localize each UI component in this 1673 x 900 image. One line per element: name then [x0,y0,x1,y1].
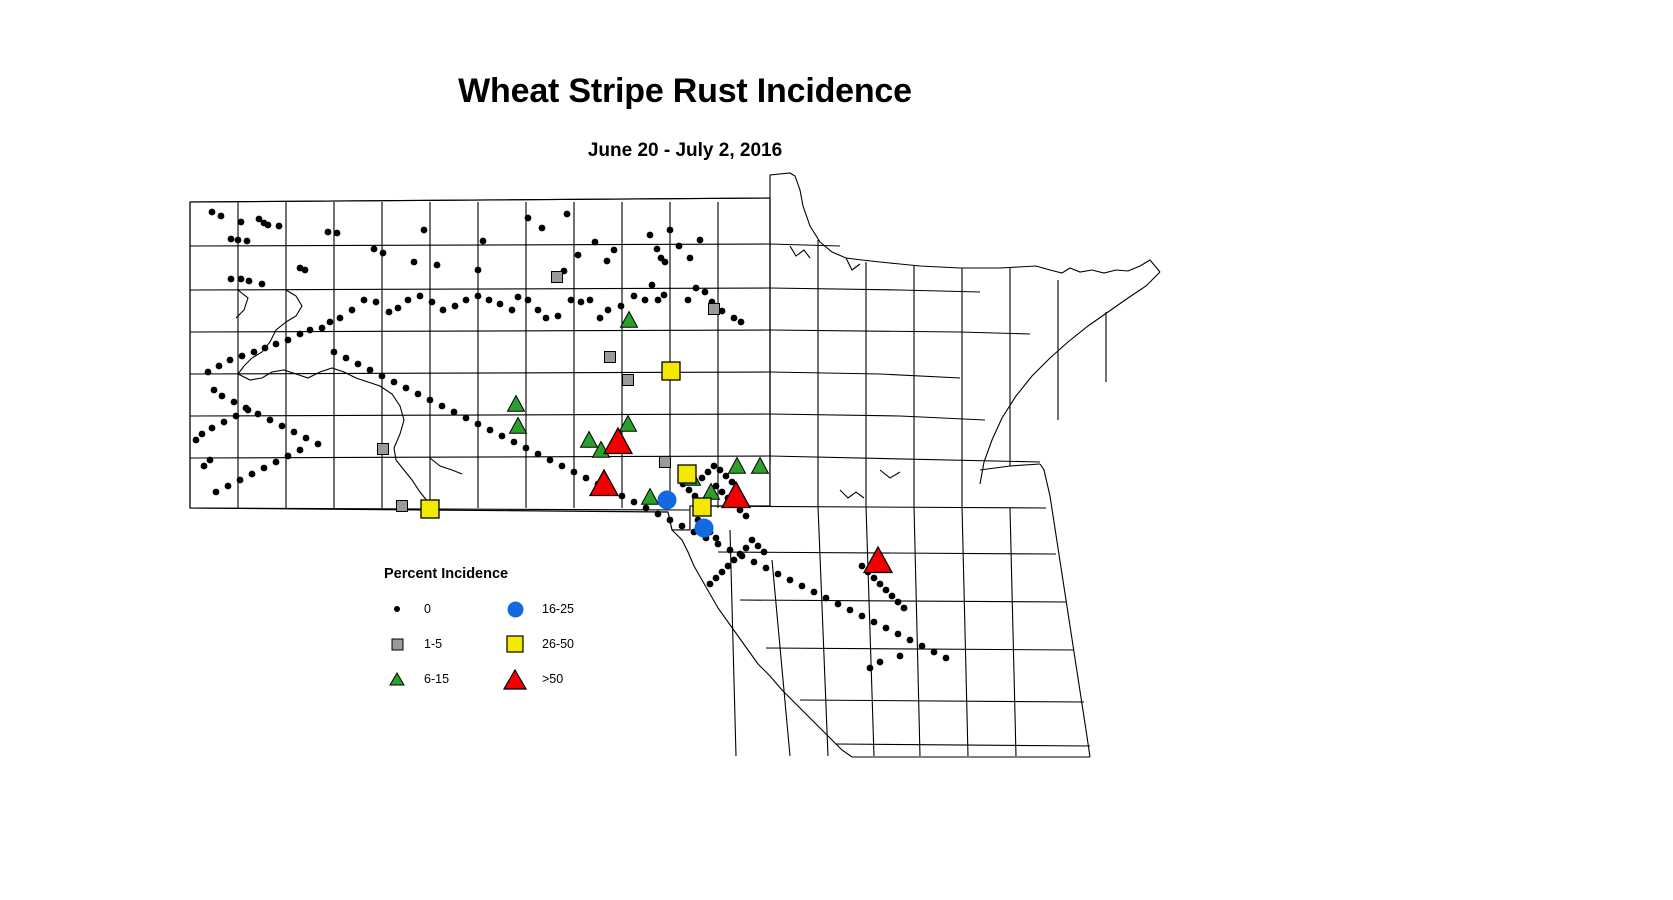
marker-dot-zero [373,299,380,306]
marker-yellow-square-26-50 [693,498,711,516]
marker-dot-zero [667,227,674,234]
gray-square-icon [384,638,410,651]
legend-item-2: 6-15 [384,668,502,690]
marker-dot-zero [539,225,546,232]
marker-dot-zero [883,625,890,632]
marker-dot-zero [249,471,256,478]
marker-dot-zero [285,337,292,344]
marker-dot-zero [835,601,842,608]
marker-dot-zero [655,511,662,518]
marker-dot-zero [251,349,258,356]
marker-dot-zero [201,463,208,470]
marker-dot-zero [687,255,694,262]
marker-dot-zero [361,297,368,304]
marker-dot-zero [475,267,482,274]
marker-dot-zero [877,659,884,666]
marker-dot-zero [231,399,238,406]
marker-dot-zero [319,325,326,332]
map-canvas [0,0,1673,900]
legend-item-3: 16-25 [502,598,620,620]
marker-dot-zero [417,293,424,300]
marker-dot-zero [555,313,562,320]
dot-icon [384,605,410,613]
marker-dot-zero [737,551,744,558]
legend-item-0: 0 [384,598,502,620]
marker-dot-zero [823,595,830,602]
marker-dot-zero [227,357,234,364]
marker-yellow-square-26-50 [421,500,439,518]
legend-label-3: 16-25 [528,602,574,616]
legend-item-5: >50 [502,668,620,690]
marker-dot-zero [259,281,266,288]
legend-item-1: 1-5 [384,633,502,655]
marker-dot-zero [611,247,618,254]
marker-dot-zero [525,297,532,304]
marker-dot-zero [463,297,470,304]
marker-dot-zero [592,239,599,246]
marker-dot-zero [931,649,938,656]
marker-dot-zero [604,258,611,265]
marker-dot-zero [583,475,590,482]
marker-dot-zero [285,453,292,460]
marker-dot-zero [943,655,950,662]
marker-dot-zero [349,307,356,314]
marker-dot-zero [679,523,686,530]
marker-dot-zero [676,243,683,250]
marker-dot-zero [297,331,304,338]
marker-dot-zero [475,421,482,428]
marker-dot-zero [367,367,374,374]
marker-dot-zero [380,250,387,257]
marker-dot-zero [325,229,332,236]
marker-dot-zero [895,631,902,638]
marker-dot-zero [871,575,878,582]
marker-dot-zero [575,252,582,259]
marker-dot-zero [578,299,585,306]
state-outlines [190,173,1160,756]
marker-dot-zero [907,637,914,644]
marker-dot-zero [246,278,253,285]
marker-dot-zero [334,230,341,237]
marker-dot-zero [355,361,362,368]
marker-dot-zero [525,215,532,222]
marker-dot-zero [731,315,738,322]
legend-title: Percent Incidence [384,566,624,582]
marker-dot-zero [571,469,578,476]
marker-dot-zero [515,294,522,301]
marker-dot-zero [486,297,493,304]
marker-dot-zero [279,423,286,430]
marker-dot-zero [221,419,228,426]
marker-dot-zero [315,441,322,448]
marker-dot-zero [475,293,482,300]
marker-dot-zero [787,577,794,584]
marker-dot-zero [207,457,214,464]
marker-dot-zero [427,397,434,404]
marker-dot-zero [480,238,487,245]
marker-dot-zero [327,319,334,326]
marker-dot-zero [631,499,638,506]
marker-dot-zero [429,299,436,306]
marker-dot-zero [699,475,706,482]
marker-dot-zero [434,262,441,269]
marker-dot-zero [725,563,732,570]
marker-dot-zero [643,505,650,512]
legend-label-1: 1-5 [410,637,442,651]
marker-dot-zero [655,297,662,304]
yellow-square-icon [502,635,528,653]
marker-dot-zero [705,469,712,476]
marker-dot-zero [775,571,782,578]
marker-dot-zero [642,297,649,304]
marker-gray-square-1-5 [605,352,616,363]
marker-dot-zero [255,411,262,418]
marker-dot-zero [199,431,206,438]
marker-dot-zero [727,547,734,554]
marker-dot-zero [568,297,575,304]
marker-dot-zero [535,307,542,314]
marker-dot-zero [847,607,854,614]
marker-dot-zero [439,403,446,410]
marker-dot-zero [713,575,720,582]
marker-dot-zero [509,307,516,314]
marker-dot-zero [297,447,304,454]
marker-dot-zero [564,211,571,218]
marker-dot-zero [895,599,902,606]
marker-dot-zero [421,227,428,234]
marker-dot-zero [273,459,280,466]
marker-dot-zero [238,276,245,283]
marker-dot-zero [273,341,280,348]
marker-dot-zero [452,303,459,310]
marker-dot-zero [245,407,252,414]
marker-dot-zero [761,549,768,556]
marker-blue-circle-16-25 [695,519,713,537]
marker-dot-zero [218,213,225,220]
marker-dot-zero [239,353,246,360]
legend-label-5: >50 [528,672,563,686]
marker-dot-zero [237,477,244,484]
marker-dot-zero [262,345,269,352]
marker-dot-zero [209,209,216,216]
marker-dot-zero [738,319,745,326]
marker-dot-zero [216,363,223,370]
marker-dot-zero [535,451,542,458]
marker-dot-zero [511,439,518,446]
marker-dot-zero [702,289,709,296]
marker-dot-zero [193,437,200,444]
marker-dot-zero [719,489,726,496]
marker-dot-zero [403,385,410,392]
marker-dot-zero [219,393,226,400]
marker-dot-zero [235,237,242,244]
marker-dot-zero [559,463,566,470]
green-triangle-icon [384,672,410,686]
marker-dot-zero [871,619,878,626]
marker-dot-zero [411,259,418,266]
marker-dot-zero [451,409,458,416]
marker-dot-zero [755,543,762,550]
marker-dot-zero [686,487,693,494]
marker-dot-zero [661,292,668,299]
marker-dot-zero [331,349,338,356]
marker-dot-zero [303,435,310,442]
marker-dot-zero [497,301,504,308]
marker-dot-zero [244,238,251,245]
marker-dot-zero [587,297,594,304]
marker-dot-zero [897,653,904,660]
marker-dot-zero [463,415,470,422]
marker-dot-zero [631,293,638,300]
red-triangle-icon [502,669,528,690]
marker-dot-zero [343,355,350,362]
marker-dot-zero [654,246,661,253]
marker-dot-zero [883,587,890,594]
marker-dot-zero [597,315,604,322]
marker-dot-zero [647,232,654,239]
marker-dot-zero [743,513,750,520]
legend-label-0: 0 [410,602,431,616]
marker-dot-zero [265,222,272,229]
marker-dot-zero [685,297,692,304]
marker-gray-square-1-5 [660,457,671,468]
marker-yellow-square-26-50 [662,362,680,380]
marker-dot-zero [919,643,926,650]
marker-dot-zero [749,537,756,544]
marker-dot-zero [211,387,218,394]
marker-gray-square-1-5 [552,272,563,283]
marker-dot-zero [261,465,268,472]
marker-dot-zero [499,433,506,440]
marker-dot-zero [487,427,494,434]
marker-dot-zero [547,457,554,464]
marker-dot-zero [386,309,393,316]
marker-dot-zero [543,315,550,322]
marker-dot-zero [276,223,283,230]
marker-dot-zero [719,569,726,576]
legend-label-2: 6-15 [410,672,449,686]
legend-item-4: 26-50 [502,633,620,655]
marker-dot-zero [337,315,344,322]
marker-dot-zero [811,589,818,596]
marker-dot-zero [715,541,722,548]
marker-dot-zero [213,489,220,496]
marker-dot-zero [799,583,806,590]
marker-dot-zero [238,219,245,226]
marker-dot-zero [867,665,874,672]
marker-dot-zero [228,276,235,283]
marker-dot-zero [693,285,700,292]
marker-dot-zero [228,236,235,243]
marker-dot-zero [667,517,674,524]
marker-dot-zero [307,327,314,334]
marker-dot-zero [291,429,298,436]
marker-dot-zero [233,413,240,420]
marker-dot-zero [717,467,724,474]
marker-dot-zero [371,246,378,253]
marker-dot-zero [209,425,216,432]
marker-dot-zero [267,417,274,424]
marker-dot-zero [711,463,718,470]
marker-gray-square-1-5 [397,501,408,512]
marker-dot-zero [618,303,625,310]
legend: Percent Incidence 0 1-5 [384,566,624,690]
marker-dot-zero [901,605,908,612]
marker-dot-zero [395,305,402,312]
marker-dot-zero [415,391,422,398]
marker-dot-zero [619,493,626,500]
marker-dot-zero [405,297,412,304]
marker-blue-circle-16-25 [658,491,676,509]
marker-dot-zero [763,565,770,572]
marker-dot-zero [859,563,866,570]
marker-gray-square-1-5 [709,304,720,315]
marker-gray-square-1-5 [378,444,389,455]
legend-column-left: 0 1-5 6-15 [384,598,502,690]
marker-dot-zero [379,373,386,380]
legend-column-right: 16-25 26-50 >50 [502,598,620,690]
marker-dot-zero [205,369,212,376]
marker-dot-zero [697,237,704,244]
blue-circle-icon [502,601,528,618]
marker-yellow-square-26-50 [678,465,696,483]
legend-label-4: 26-50 [528,637,574,651]
marker-dot-zero [713,535,720,542]
map-page: Wheat Stripe Rust Incidence June 20 - Ju… [0,0,1673,900]
marker-dot-zero [391,379,398,386]
marker-dot-zero [751,559,758,566]
marker-dot-zero [877,581,884,588]
marker-dot-zero [707,581,714,588]
marker-dot-zero [440,307,447,314]
marker-dot-zero [743,545,750,552]
marker-dot-zero [605,307,612,314]
marker-dot-zero [859,613,866,620]
marker-dot-zero [649,282,656,289]
marker-gray-square-1-5 [623,375,634,386]
marker-dot-zero [662,259,669,266]
marker-dot-zero [523,445,530,452]
marker-dot-zero [225,483,232,490]
marker-dot-zero [731,557,738,564]
marker-dot-zero [302,267,309,274]
marker-dot-zero [889,593,896,600]
